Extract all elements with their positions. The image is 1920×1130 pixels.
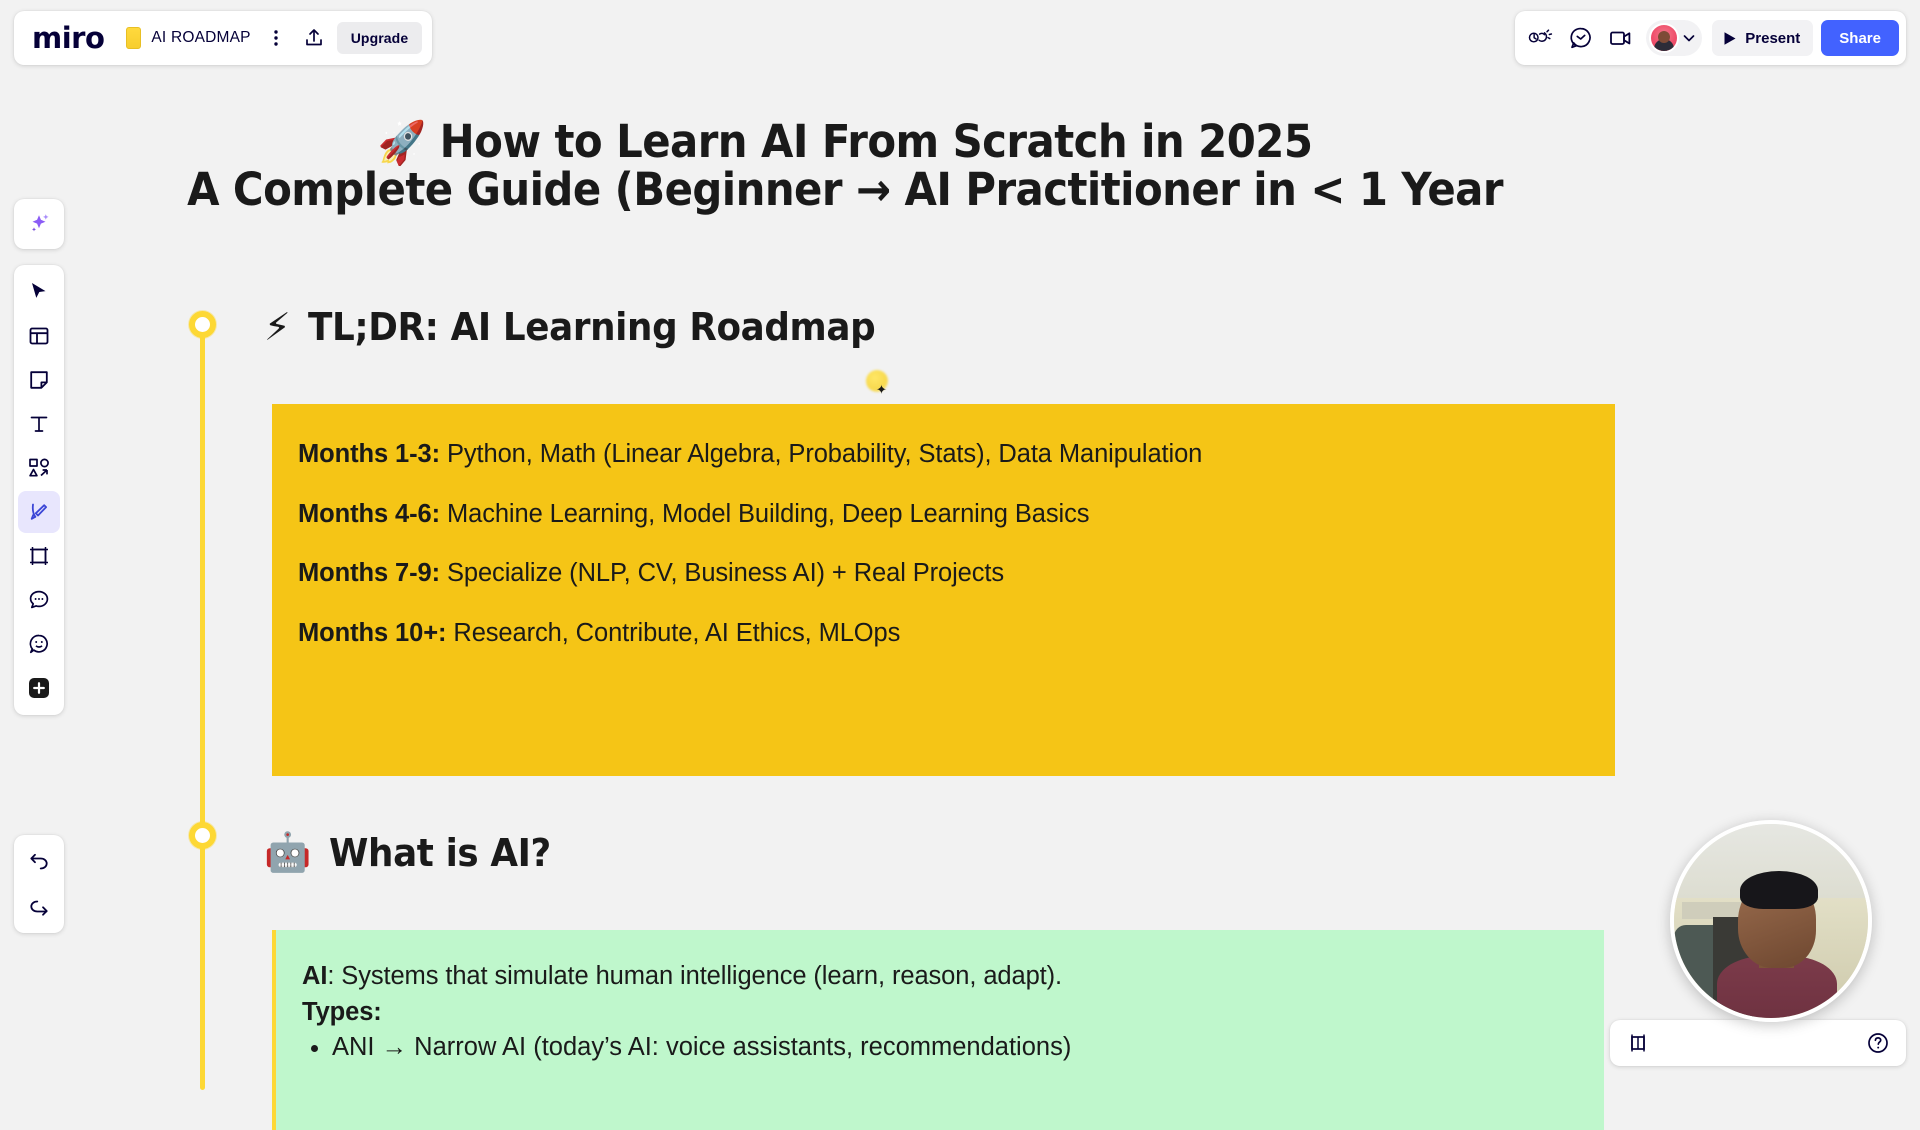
present-button-label: Present: [1745, 30, 1800, 47]
frame-icon: [27, 544, 51, 568]
shapes-icon: [27, 456, 51, 480]
lightning-emoji: ⚡: [264, 305, 290, 349]
video-bubble[interactable]: [1670, 820, 1872, 1022]
cursor-icon: [27, 280, 51, 304]
top-toolbar-left: miro AI ROADMAP Upgrade: [14, 11, 432, 65]
board-title-line2: A Complete Guide (Beginner → AI Practiti…: [59, 166, 1631, 214]
sidebar-item-templates[interactable]: [18, 315, 60, 357]
user-avatar-group[interactable]: [1646, 20, 1702, 56]
sidebar-item-cursor-select[interactable]: [18, 271, 60, 313]
ai-definition: AI: Systems that simulate human intellig…: [302, 960, 1578, 994]
collaborator-cursor: ✦: [866, 370, 888, 392]
upload-icon[interactable]: [295, 19, 333, 57]
undo-redo-group: [14, 835, 64, 933]
share-button[interactable]: Share: [1821, 20, 1899, 56]
roadmap-row: Months 7-9: Specialize (NLP, CV, Busines…: [298, 561, 1589, 587]
robot-emoji: 🤖: [264, 830, 311, 875]
section-heading-text: What is AI?: [329, 831, 551, 875]
present-button[interactable]: Present: [1712, 20, 1813, 56]
plus-square-icon: [26, 675, 52, 701]
ai-definition-text: : Systems that simulate human intelligen…: [327, 962, 1062, 990]
rocket-emoji: 🚀: [378, 118, 426, 167]
pen-icon: [27, 500, 51, 524]
chat-icon[interactable]: [1562, 19, 1600, 57]
frames-glyph: [1627, 1032, 1649, 1054]
board-title: 🚀 How to Learn AI From Scratch in 2025 A…: [59, 118, 1631, 213]
help-icon: [1866, 1031, 1890, 1055]
more-options-icon[interactable]: [257, 19, 295, 57]
sidebar-item-comment[interactable]: [18, 579, 60, 621]
sidebar-item-reaction[interactable]: [18, 623, 60, 665]
redo-button[interactable]: [18, 885, 60, 927]
undo-button[interactable]: [18, 841, 60, 883]
redo-icon: [27, 894, 51, 918]
top-toolbar-right: Present Share: [1515, 11, 1906, 65]
ai-types-label: Types:: [302, 996, 1578, 1030]
templates-icon: [27, 324, 51, 348]
timeline-marker-1: [189, 311, 216, 338]
board-title-line1: How to Learn AI From Scratch in 2025: [440, 115, 1313, 168]
video-camera-icon[interactable]: [1602, 19, 1640, 57]
ai-sparkle-icon: [26, 211, 52, 237]
bottom-toolbar: [1610, 1020, 1906, 1066]
roadmap-row-label: Months 1-3:: [298, 440, 440, 468]
timeline-line: [200, 330, 205, 1090]
frames-icon[interactable]: [1620, 1025, 1656, 1061]
chevron-down-icon[interactable]: [1680, 29, 1698, 47]
sidebar-item-pen[interactable]: [18, 491, 60, 533]
sidebar-item-more-apps[interactable]: [18, 667, 60, 709]
ai-definition-label: AI: [302, 962, 327, 990]
roadmap-row-label: Months 7-9:: [298, 559, 440, 587]
ai-types-list: ANI → Narrow AI (today’s AI: voice assis…: [332, 1031, 1578, 1064]
board-name-label: AI ROADMAP: [151, 29, 250, 47]
sidebar-item-text[interactable]: [18, 403, 60, 445]
help-button[interactable]: [1860, 1025, 1896, 1061]
roadmap-row: Months 4-6: Machine Learning, Model Buil…: [298, 502, 1589, 528]
roadmap-row-text: Specialize (NLP, CV, Business AI) + Real…: [440, 559, 1004, 587]
what-is-ai-card[interactable]: AI: Systems that simulate human intellig…: [272, 930, 1604, 1130]
sidebar-item-ai-sparkle[interactable]: [14, 199, 64, 249]
sidebar-item-shapes[interactable]: [18, 447, 60, 489]
roadmap-card[interactable]: Months 1-3: Python, Math (Linear Algebra…: [272, 404, 1615, 776]
roadmap-row: Months 1-3: Python, Math (Linear Algebra…: [298, 442, 1589, 468]
avatar[interactable]: [1649, 23, 1679, 53]
section-heading-what-is-ai: 🤖 What is AI?: [264, 830, 565, 875]
reaction-icon: [27, 632, 51, 656]
sticky-note-icon: [27, 368, 51, 392]
upgrade-button[interactable]: Upgrade: [337, 22, 423, 54]
sidebar-item-sticky-note[interactable]: [18, 359, 60, 401]
roadmap-row: Months 10+: Research, Contribute, AI Eth…: [298, 621, 1589, 647]
timeline-marker-2: [189, 822, 216, 849]
roadmap-row-label: Months 4-6:: [298, 500, 440, 528]
play-icon: [1723, 31, 1737, 46]
celebrate-icon[interactable]: [1522, 19, 1560, 57]
section-heading-text: TL;DR: AI Learning Roadmap: [308, 305, 875, 349]
board-canvas[interactable]: 🚀 How to Learn AI From Scratch in 2025 A…: [0, 0, 1920, 1080]
roadmap-row-text: Python, Math (Linear Algebra, Probabilit…: [440, 440, 1202, 468]
comment-icon: [27, 588, 51, 612]
left-toolbar: [14, 265, 64, 715]
cursor-pointer-icon: ✦: [876, 382, 887, 398]
sidebar-item-frame[interactable]: [18, 535, 60, 577]
video-person-hair: [1740, 871, 1818, 910]
list-item: ANI → Narrow AI (today’s AI: voice assis…: [332, 1031, 1578, 1064]
board-name-chip[interactable]: AI ROADMAP: [120, 27, 256, 49]
undo-icon: [27, 850, 51, 874]
miro-logo[interactable]: miro: [32, 24, 120, 53]
sticky-note-icon: [126, 27, 141, 49]
text-icon: [27, 412, 51, 436]
roadmap-row-label: Months 10+:: [298, 619, 446, 647]
roadmap-row-text: Machine Learning, Model Building, Deep L…: [440, 500, 1089, 528]
roadmap-row-text: Research, Contribute, AI Ethics, MLOps: [446, 619, 900, 647]
section-heading-tldr: ⚡ TL;DR: AI Learning Roadmap: [264, 305, 912, 349]
